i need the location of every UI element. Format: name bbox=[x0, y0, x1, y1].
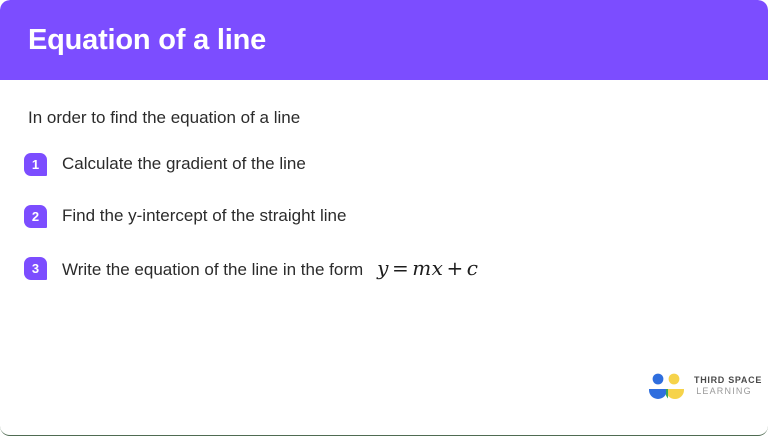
brand-line-1: THIRD SPACE bbox=[694, 375, 754, 386]
equation-lhs: y bbox=[377, 256, 389, 280]
step-number-badge: 3 bbox=[24, 257, 47, 280]
step-label-text: Write the equation of the line in the fo… bbox=[62, 260, 363, 279]
list-item: 1 Calculate the gradient of the line bbox=[0, 146, 768, 198]
intro-text: In order to find the equation of a line bbox=[28, 106, 300, 130]
brand-line-2: LEARNING bbox=[694, 386, 754, 397]
list-item: 3 Write the equation of the line in the … bbox=[0, 250, 768, 302]
equation-term2: c bbox=[467, 256, 479, 280]
step-label: Calculate the gradient of the line bbox=[62, 151, 306, 177]
step-label: Write the equation of the line in the fo… bbox=[62, 255, 478, 283]
steps-list: 1 Calculate the gradient of the line 2 F… bbox=[0, 146, 768, 302]
brand-wordmark: THIRD SPACE LEARNING bbox=[694, 375, 754, 397]
equation-formula: y=mx+c bbox=[363, 256, 478, 280]
equation-term1: mx bbox=[412, 256, 443, 280]
header-bar: Equation of a line bbox=[0, 0, 768, 80]
slide-card: Equation of a line In order to find the … bbox=[0, 0, 768, 436]
equation-equals: = bbox=[389, 256, 412, 280]
step-number-badge: 1 bbox=[24, 153, 47, 176]
brand-logo: THIRD SPACE LEARNING bbox=[646, 370, 750, 406]
page-title: Equation of a line bbox=[28, 23, 266, 57]
list-item: 2 Find the y-intercept of the straight l… bbox=[0, 198, 768, 250]
third-space-learning-mark-icon bbox=[646, 372, 688, 404]
equation-plus: + bbox=[443, 256, 466, 280]
step-label: Find the y-intercept of the straight lin… bbox=[62, 203, 346, 229]
step-number-badge: 2 bbox=[24, 205, 47, 228]
